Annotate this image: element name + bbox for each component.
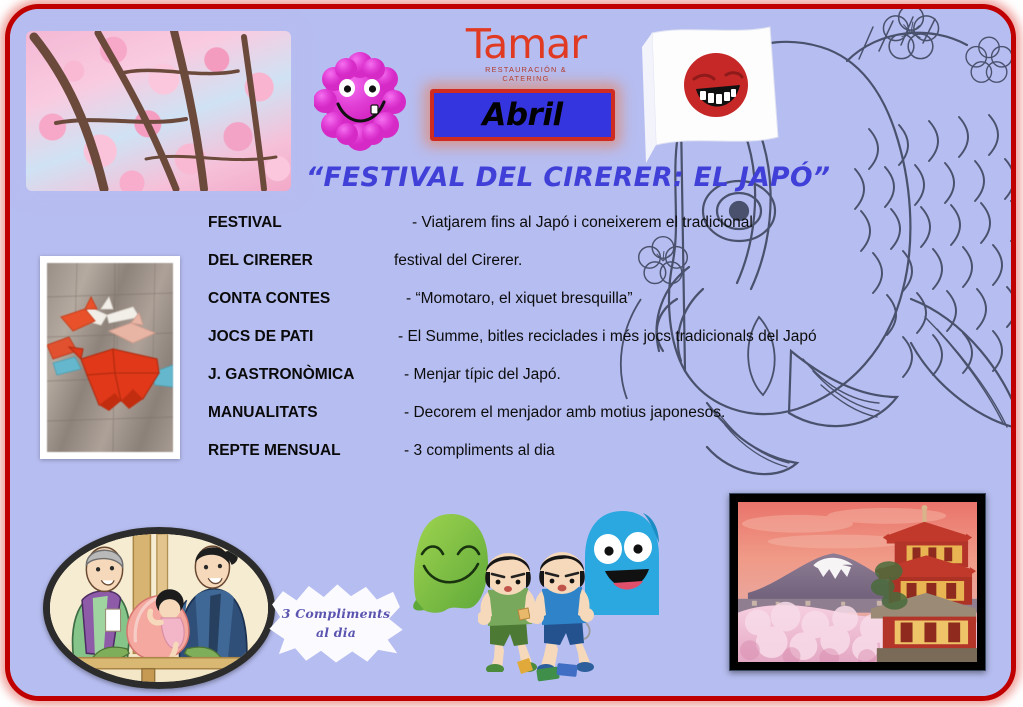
program-row: DEL CIRERER festival del Cirerer. [208, 252, 1008, 290]
program-desc: - El Summe, bitles reciclades i més jocs… [398, 328, 817, 346]
momotaro-peach-boy-illustration [43, 527, 275, 689]
program-row: FESTIVAL - Viatjarem fins al Japó i cone… [208, 214, 1008, 252]
program-label: J. GASTRONÒMICA [208, 366, 354, 384]
origami-cranes-photo [40, 256, 180, 459]
page-title: “FESTIVAL DEL CIRERER: EL JAPÓ” [306, 162, 746, 193]
game-pieces [515, 654, 585, 686]
program-desc: - Decorem el menjador amb motius japones… [404, 404, 725, 422]
program-desc: - 3 compliments al dia [404, 442, 555, 460]
program-desc: - “Momotaro, el xiquet bresquilla” [406, 290, 633, 308]
program-label: REPTE MENSUAL [208, 442, 341, 460]
month-label: Abril [482, 97, 562, 133]
program-row: REPTE MENSUAL - 3 compliments al dia [208, 442, 1008, 480]
program-desc: festival del Cirerer. [394, 252, 522, 270]
month-badge[interactable]: Abril [430, 89, 615, 141]
program-label: FESTIVAL [208, 214, 282, 232]
program-row: CONTA CONTES - “Momotaro, el xiquet bres… [208, 290, 1008, 328]
challenge-badge: 3 Compliments al dia [268, 581, 404, 665]
tamar-logo: Tamar RESTAURACIÓN & CATERING [462, 25, 590, 83]
program-label: MANUALITATS [208, 404, 318, 422]
sakura-branches [26, 31, 291, 191]
challenge-badge-line1: 3 Compliments [282, 604, 390, 623]
mount-fuji-pagoda-photo [729, 493, 986, 671]
program-row: JOCS DE PATI - El Summe, bitles reciclad… [208, 328, 1008, 366]
poster-root: Tamar RESTAURACIÓN & CATERING Abril “FES [0, 0, 1023, 707]
logo-name: Tamar [462, 25, 590, 64]
poster-canvas: Tamar RESTAURACIÓN & CATERING Abril “FES [10, 9, 1011, 696]
cherry-blossom-photo [26, 31, 291, 191]
program-label: CONTA CONTES [208, 290, 330, 308]
program-label: DEL CIRERER [208, 252, 313, 270]
japan-flag-with-face [630, 17, 790, 177]
program-row: J. GASTRONÒMICA - Menjar típic del Japó. [208, 366, 1008, 404]
challenge-badge-line2: al dia [316, 623, 356, 642]
pink-blob-monster [314, 47, 406, 153]
program-list: FESTIVAL - Viatjarem fins al Japó i cone… [208, 214, 1008, 480]
program-desc: - Menjar típic del Japó. [404, 366, 561, 384]
program-label: JOCS DE PATI [208, 328, 313, 346]
program-desc: - Viatjarem fins al Japó i coneixerem el… [412, 214, 753, 232]
program-row: MANUALITATS - Decorem el menjador amb mo… [208, 404, 1008, 442]
